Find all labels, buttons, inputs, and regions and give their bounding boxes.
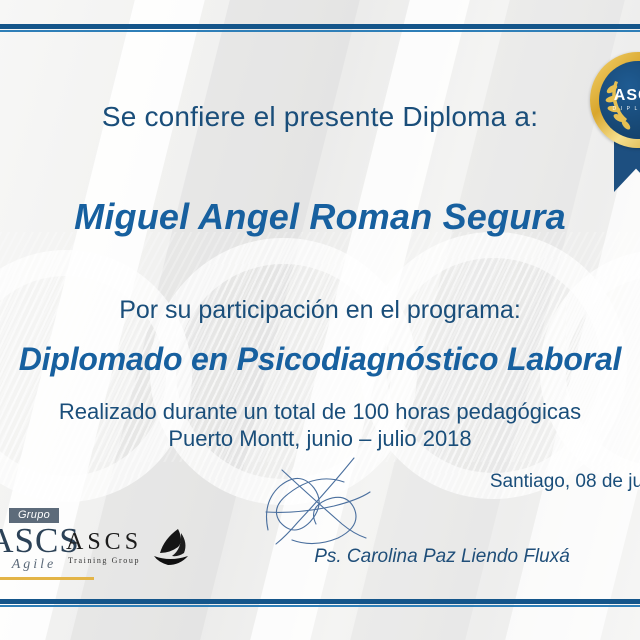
- logo-training-text: ASCS Training Group: [66, 530, 142, 565]
- certificate-canvas: ASCS D I P L O M A Se confiere el presen…: [0, 0, 640, 640]
- issue-city-date-text: Santiago, 08 de julio de 2018: [490, 471, 640, 492]
- program-title: Diplomado en Psicodiagnóstico Laboral: [0, 341, 640, 378]
- logo-training-wordmark: ASCS: [66, 530, 142, 554]
- recipient-name: Miguel Angel Roman Segura: [0, 196, 640, 238]
- place-period-line: Puerto Montt, junio – julio 2018: [0, 426, 640, 452]
- lead-line: Se confiere el presente Diploma a:: [0, 101, 640, 133]
- signer-name-text: Ps. Carolina Paz Liendo Fluxá: [314, 546, 570, 567]
- logo-ascs-training-group: ASCS Training Group: [66, 527, 192, 567]
- participation-line: Por su participación en el programa:: [0, 296, 640, 325]
- sailboat-icon: [148, 527, 192, 567]
- logo-agile-underline: [0, 577, 94, 580]
- signature-mark: [258, 452, 378, 552]
- logo-training-tagline: Training Group: [66, 556, 142, 565]
- issue-city-date: Santiago, 08 de julio de 2018: [0, 471, 640, 493]
- hours-line: Realizado durante un total de 100 horas …: [0, 399, 640, 425]
- certificate-content: Se confiere el presente Diploma a: Migue…: [0, 0, 640, 640]
